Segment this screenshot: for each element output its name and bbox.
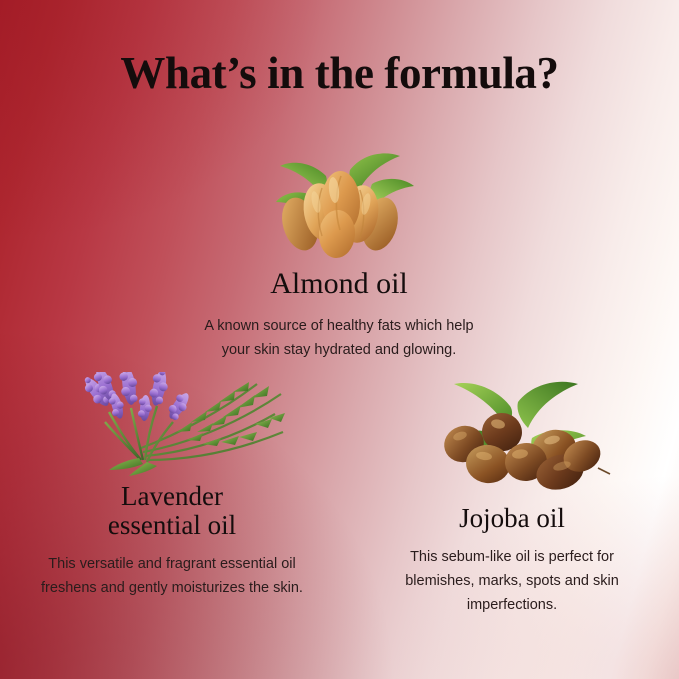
ingredient-title-line-1: Lavender	[22, 482, 322, 511]
ingredient-description-almond-oil: A known source of healthy fats which hel…	[169, 314, 509, 362]
ingredient-card-lavender-essential-oil: Lavender essential oil This versatile an…	[22, 372, 322, 600]
jojoba-seeds-with-green-leaves-icon	[362, 372, 662, 500]
ingredient-title-lavender-essential-oil: Lavender essential oil	[22, 482, 322, 540]
ingredient-description-lavender-essential-oil: This versatile and fragrant essential oi…	[22, 552, 322, 600]
poster-content: What’s in the formula?	[0, 0, 679, 679]
ingredient-card-jojoba-oil: Jojoba oil This sebum-like oil is perfec…	[362, 372, 662, 617]
ingredient-description-jojoba-oil: This sebum-like oil is perfect for blemi…	[362, 545, 662, 617]
ingredient-title-almond-oil: Almond oil	[169, 268, 509, 300]
lavender-sprigs-bouquet-icon	[22, 372, 322, 476]
almond-nuts-with-green-leaves-icon	[169, 140, 509, 258]
ingredient-title-jojoba-oil: Jojoba oil	[362, 504, 662, 533]
formula-poster: What’s in the formula?	[0, 0, 679, 679]
ingredient-title-line-2: essential oil	[22, 511, 322, 540]
page-title: What’s in the formula?	[0, 47, 679, 99]
ingredient-card-almond-oil: Almond oil A known source of healthy fat…	[169, 140, 509, 363]
